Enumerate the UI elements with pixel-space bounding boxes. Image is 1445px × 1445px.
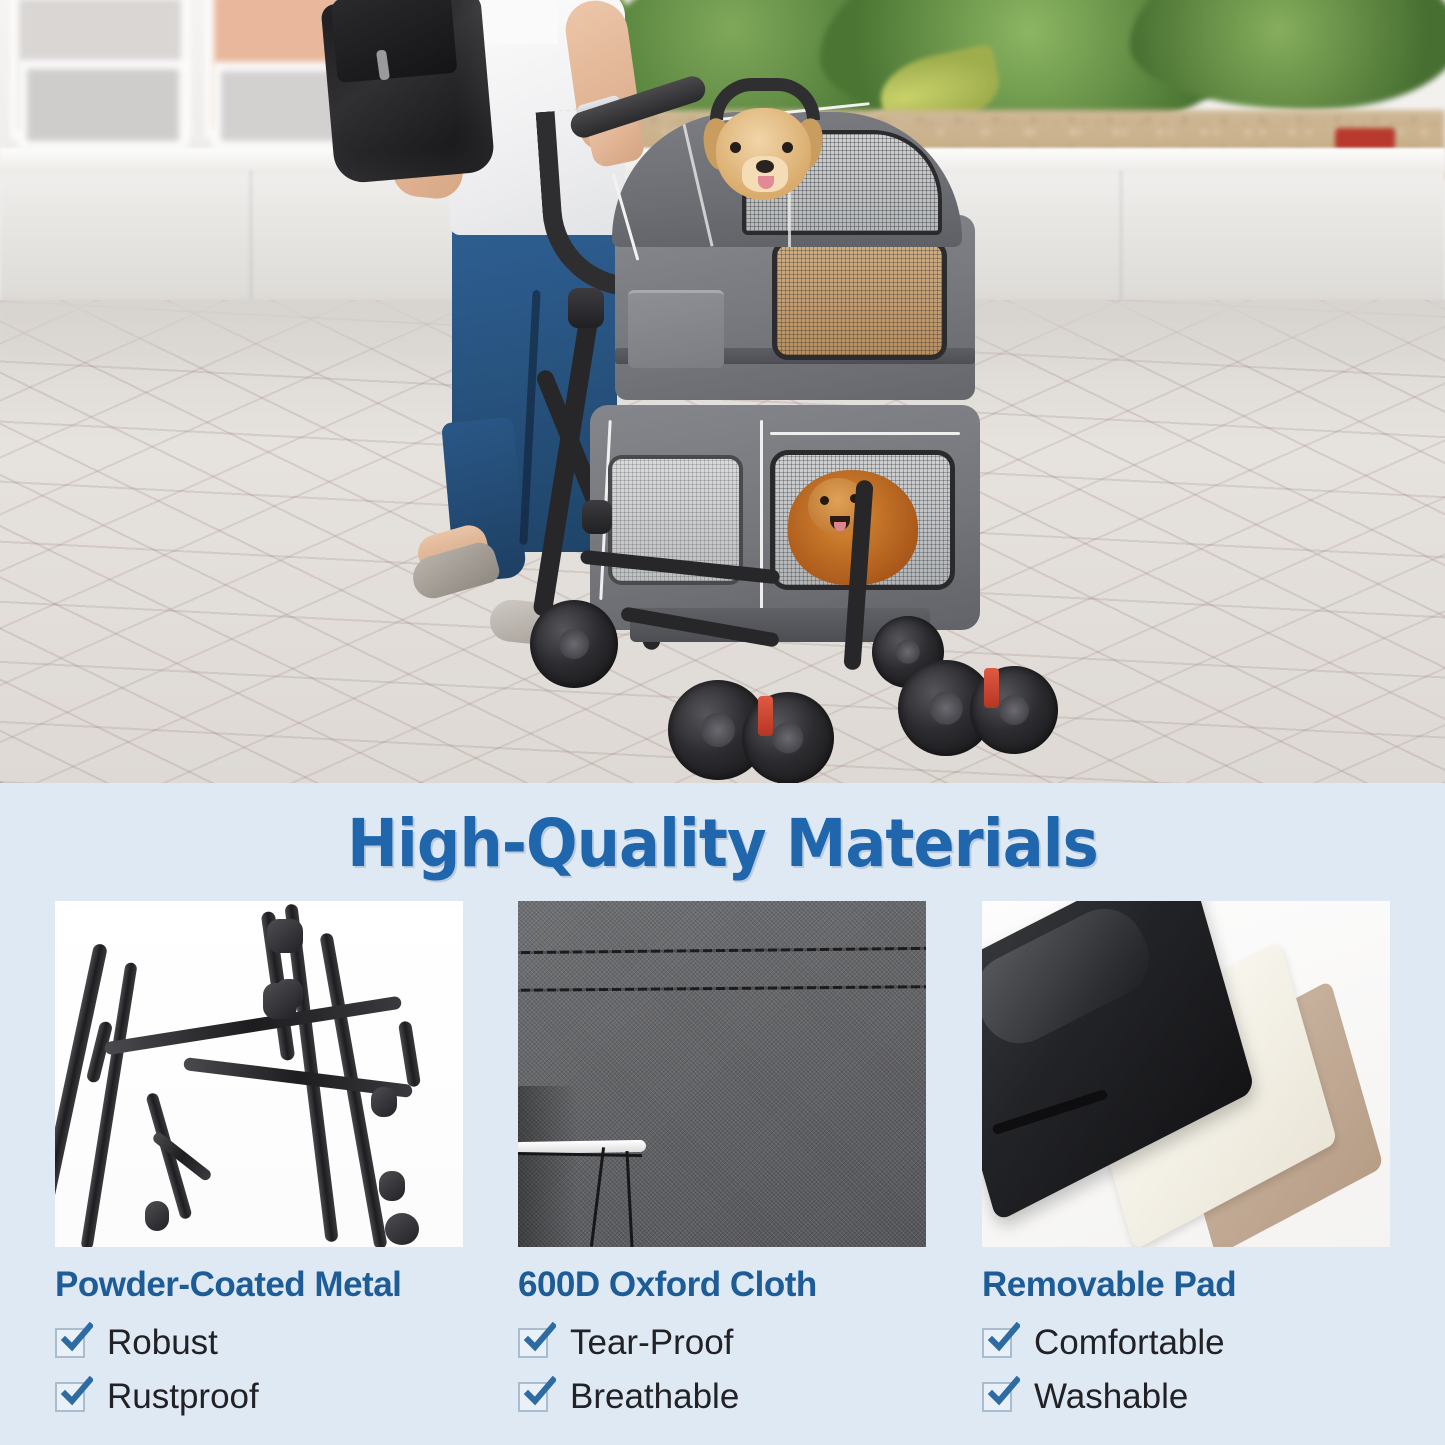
checkbox-icon xyxy=(55,1328,85,1358)
feature-list: Comfortable Washable xyxy=(982,1323,1390,1417)
pet-stroller xyxy=(520,60,1040,760)
side-storage-pocket xyxy=(628,290,724,368)
hero-lifestyle-photo xyxy=(0,0,1445,783)
feature-label: Robust xyxy=(107,1323,218,1363)
red-object xyxy=(1335,128,1395,150)
carrier-mesh-window xyxy=(772,240,947,360)
wheel-brake-lever xyxy=(758,696,773,736)
material-card: Removable Pad Comfortable Washable xyxy=(982,901,1390,1431)
frame-joint xyxy=(145,1201,169,1231)
feature-item: Breathable xyxy=(518,1377,926,1417)
feature-item: Robust xyxy=(55,1323,463,1363)
frame-joint xyxy=(263,983,297,1019)
section-title: High-Quality Materials xyxy=(58,805,1387,882)
stroller-wheel xyxy=(530,600,618,688)
feature-label: Washable xyxy=(1034,1377,1188,1417)
puppy-eye xyxy=(782,142,793,153)
material-cards: Powder-Coated Metal Robust Rustproof xyxy=(0,901,1445,1421)
window-pane xyxy=(18,60,188,150)
frame-joint xyxy=(385,1213,419,1245)
frame-hinge xyxy=(582,500,612,534)
feature-label: Rustproof xyxy=(107,1377,259,1417)
feature-list: Robust Rustproof xyxy=(55,1323,463,1417)
feature-label: Tear-Proof xyxy=(570,1323,733,1363)
frame-joint xyxy=(371,1087,397,1117)
material-photo-powder-coated-metal xyxy=(55,901,463,1247)
material-photo-oxford-cloth xyxy=(518,901,926,1247)
material-photo-removable-pad xyxy=(982,901,1390,1247)
frame-joint xyxy=(379,1171,405,1201)
stroller-wheel xyxy=(742,692,834,783)
piping-trim xyxy=(770,432,960,435)
material-card-title: Removable Pad xyxy=(982,1265,1390,1305)
fabric-shadow xyxy=(518,1086,578,1247)
feature-item: Rustproof xyxy=(55,1377,463,1417)
feature-item: Comfortable xyxy=(982,1323,1390,1363)
frame-hinge xyxy=(568,288,604,328)
puppy-eye xyxy=(730,142,741,153)
materials-section: High-Quality Materials xyxy=(0,783,1445,1445)
checkbox-icon xyxy=(982,1382,1012,1412)
handbag-flap xyxy=(331,0,458,83)
feature-list: Tear-Proof Breathable xyxy=(518,1323,926,1417)
dog-eye xyxy=(820,496,829,505)
material-card-title: 600D Oxford Cloth xyxy=(518,1265,926,1305)
wheel-brake-lever xyxy=(984,668,999,708)
wall-seam xyxy=(250,170,252,320)
product-marketing-page: High-Quality Materials xyxy=(0,0,1445,1445)
feature-item: Washable xyxy=(982,1377,1390,1417)
frame-joint xyxy=(267,919,303,953)
feature-item: Tear-Proof xyxy=(518,1323,926,1363)
checkbox-icon xyxy=(55,1382,85,1412)
checkbox-icon xyxy=(982,1328,1012,1358)
feature-label: Comfortable xyxy=(1034,1323,1225,1363)
material-card: 600D Oxford Cloth Tear-Proof Breathable xyxy=(518,901,926,1431)
wall-seam xyxy=(1120,170,1122,320)
checkbox-icon xyxy=(518,1382,548,1412)
checkbox-icon xyxy=(518,1328,548,1358)
material-card-title: Powder-Coated Metal xyxy=(55,1265,463,1305)
material-card: Powder-Coated Metal Robust Rustproof xyxy=(55,901,463,1431)
feature-label: Breathable xyxy=(570,1377,739,1417)
puppy-nose xyxy=(756,160,774,173)
